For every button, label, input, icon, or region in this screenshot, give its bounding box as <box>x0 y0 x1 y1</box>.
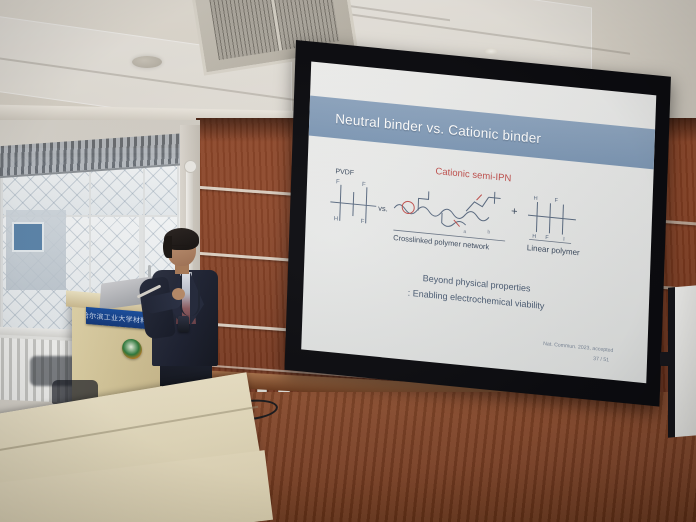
svg-text:a: a <box>463 229 466 235</box>
projection-screen: Neutral binder vs. Cationic binder Catio… <box>284 40 670 407</box>
wall-whiteboard <box>668 284 696 438</box>
svg-text:b: b <box>487 229 490 235</box>
presenter-hand <box>172 288 185 300</box>
outside-building-window <box>12 222 44 252</box>
crosslinked-polymer-structure-icon: ab <box>391 174 511 246</box>
svg-text:H: H <box>532 234 536 240</box>
svg-text:H: H <box>534 196 538 202</box>
svg-text:F: F <box>554 198 558 204</box>
linear-polymer-structure-icon: HF HFI <box>523 191 581 248</box>
svg-text:F: F <box>336 179 340 185</box>
slide-reference-citation: Nat. Commun. 2023, accepted <box>543 341 613 354</box>
slide-label-plus: + <box>511 206 518 219</box>
recessed-ceiling-light-icon <box>484 48 498 55</box>
slide-surface: Neutral binder vs. Cationic binder Catio… <box>301 62 656 384</box>
svg-text:F: F <box>545 235 549 241</box>
presenter-badge <box>178 316 189 332</box>
presentation-room-photo: Neutral binder vs. Cationic binder Catio… <box>0 0 696 522</box>
slide-header-band: Neutral binder vs. Cationic binder <box>309 96 655 170</box>
pipe-cap-icon <box>184 160 197 173</box>
svg-text:H: H <box>334 216 339 222</box>
svg-text:I: I <box>563 237 565 243</box>
pvdf-structure-icon: FF HF <box>326 175 381 226</box>
slide-page-number: 37 / 51 <box>593 356 609 364</box>
glasses-icon <box>169 245 194 252</box>
recessed-ceiling-light-icon <box>132 56 162 68</box>
whiteboard-mount-icon <box>660 352 670 366</box>
svg-text:F: F <box>362 182 366 188</box>
svg-text:F: F <box>361 219 365 225</box>
slide-title: Neutral binder vs. Cationic binder <box>309 108 541 146</box>
